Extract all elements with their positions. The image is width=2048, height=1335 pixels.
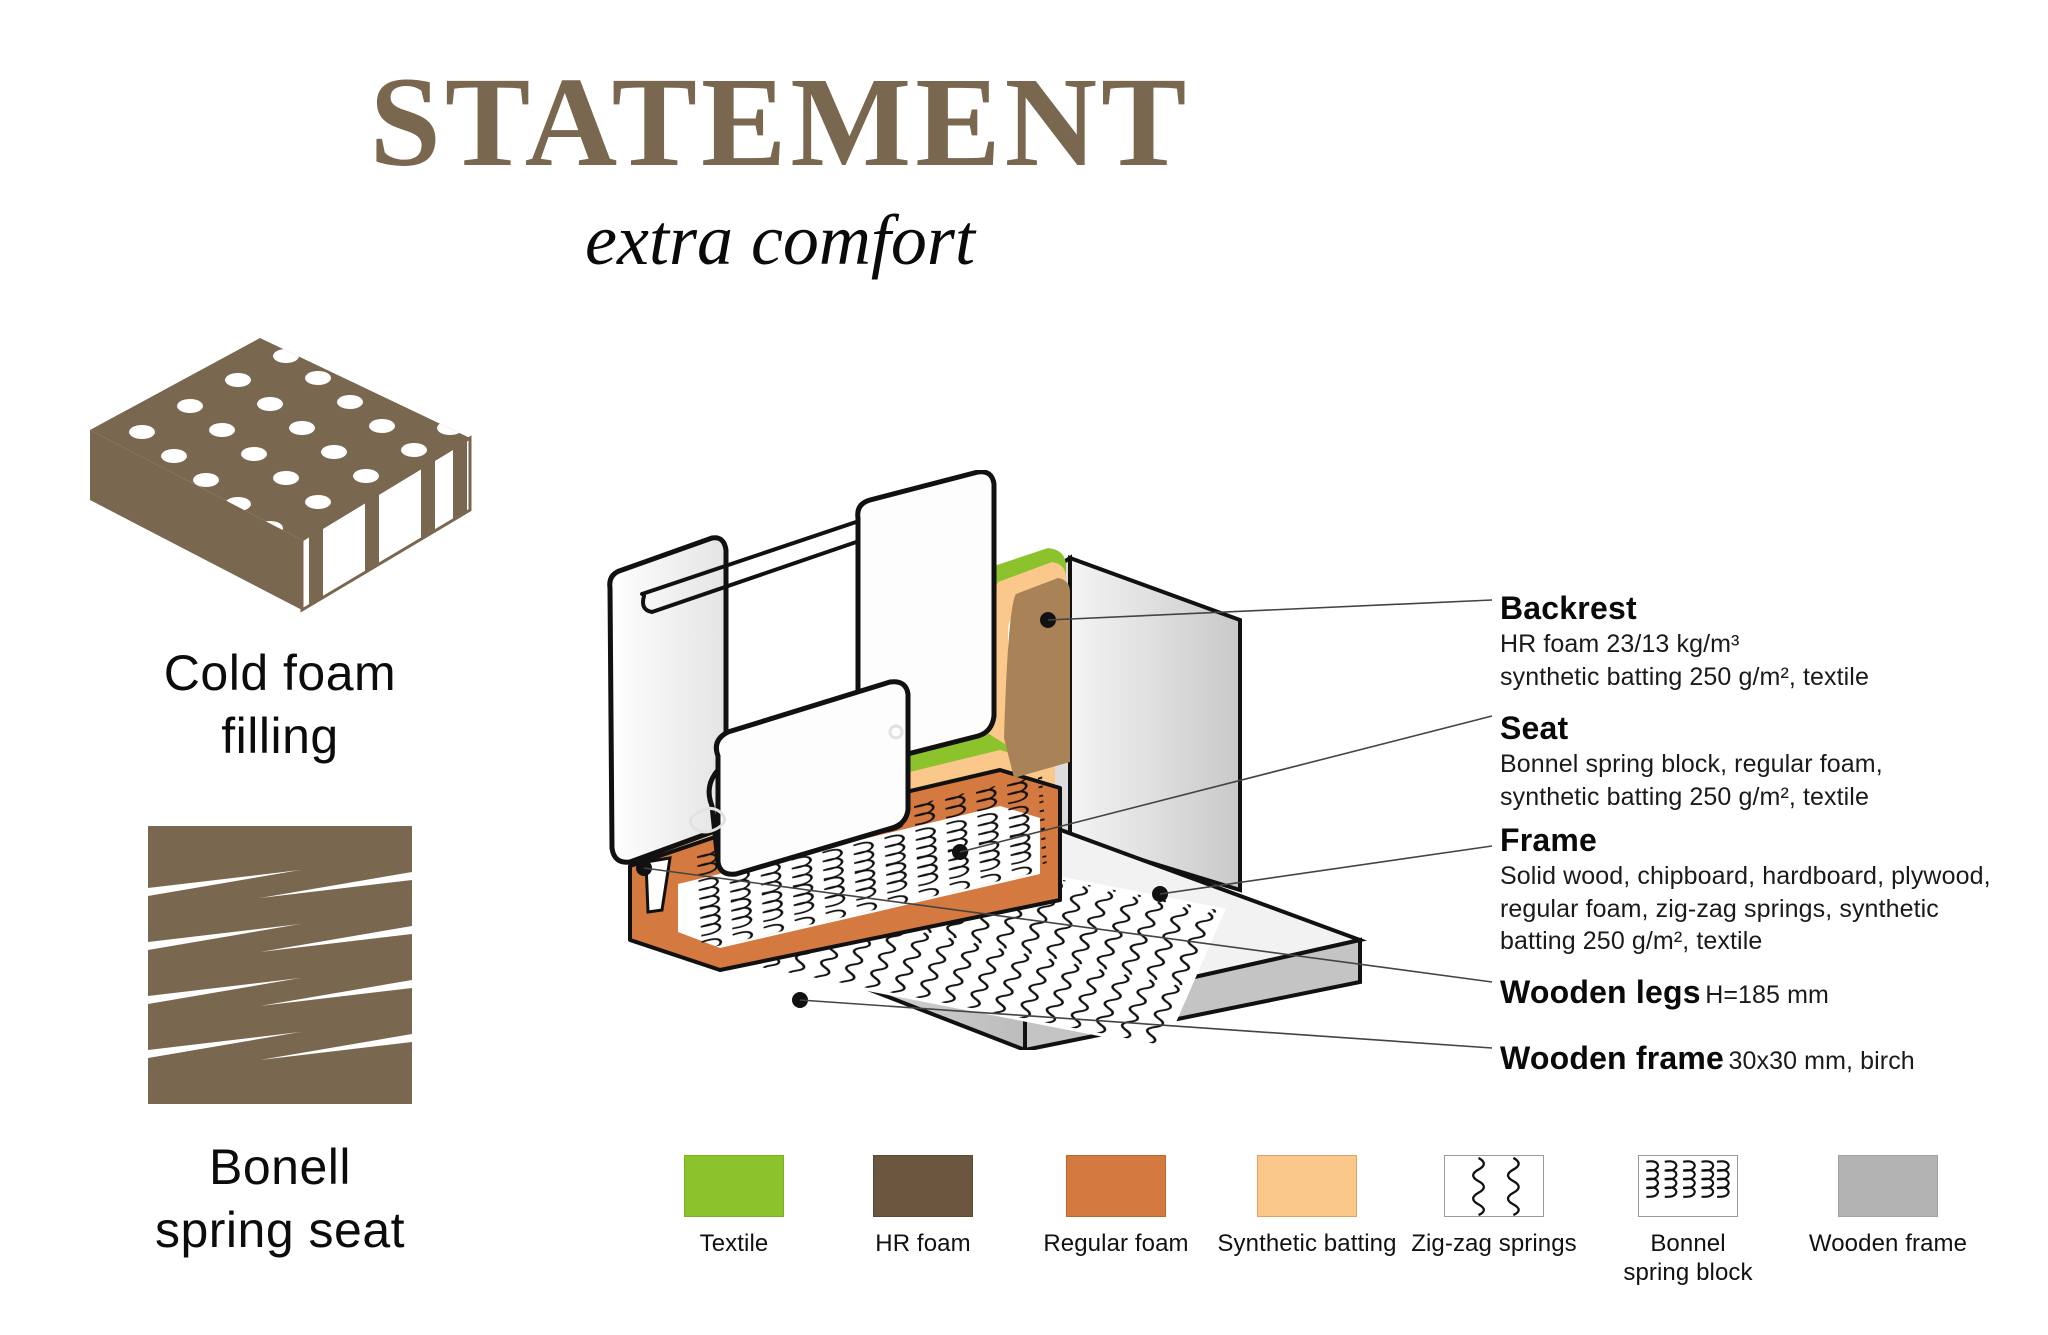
callout-wooden-frame-title: Wooden frame	[1500, 1040, 1724, 1076]
callout-dot-backrest	[1040, 612, 1056, 628]
callout-dot-wooden-frame	[792, 992, 808, 1008]
legend-label-bonnel-spring-block: Bonnel spring block	[1588, 1229, 1788, 1288]
legend-swatch-bonnel-spring-block	[1638, 1155, 1738, 1217]
callout-frame-title: Frame	[1500, 820, 1991, 860]
callout-seat-title: Seat	[1500, 708, 1883, 748]
callout-dot-seat	[952, 844, 968, 860]
callout-seat: Seat Bonnel spring block, regular foam, …	[1500, 708, 1883, 813]
callout-wooden-frame-detail: 30x30 mm, birch	[1729, 1047, 1915, 1075]
legend-item-bonnel-spring-block: Bonnel spring block	[1588, 1155, 1788, 1288]
cold-foam-block-icon	[70, 320, 490, 620]
callout-backrest-line2: synthetic batting 250 g/m², textile	[1500, 661, 1869, 694]
legend-swatch-wooden-frame	[1838, 1155, 1938, 1217]
zig-zag-spring-icon	[140, 820, 420, 1110]
sofa-cutaway-illustration	[600, 470, 1400, 1050]
legend-label-wooden-frame: Wooden frame	[1788, 1229, 1988, 1258]
title-block: STATEMENT extra comfort	[0, 58, 1560, 276]
page-subtitle: extra comfort	[0, 204, 1560, 276]
legend-swatch-synthetic-batting	[1257, 1155, 1357, 1217]
legend-swatch-hr-foam	[873, 1155, 973, 1217]
left-feature-column: Cold foam filling Bonell spring seat	[60, 320, 500, 1262]
legend-swatch-zig-zag-springs	[1444, 1155, 1544, 1217]
infographic-page: STATEMENT extra comfort	[0, 0, 2048, 1335]
cold-foam-caption-line2: filling	[60, 705, 500, 768]
legend-swatch-regular-foam	[1066, 1155, 1166, 1217]
callout-seat-line1: Bonnel spring block, regular foam,	[1500, 748, 1883, 781]
callout-backrest-title: Backrest	[1500, 588, 1869, 628]
callout-wooden-legs-detail: H=185 mm	[1705, 981, 1829, 1009]
legend-label-textile: Textile	[640, 1229, 828, 1258]
callout-backrest-line1: HR foam 23/13 kg/m³	[1500, 628, 1869, 661]
callout-frame-line1: Solid wood, chipboard, hardboard, plywoo…	[1500, 860, 1991, 893]
callout-frame-line2: regular foam, zig-zag springs, synthetic	[1500, 893, 1991, 926]
callout-dot-frame	[1152, 886, 1168, 902]
bonell-spring-caption-line1: Bonell	[60, 1136, 500, 1199]
callout-wooden-frame: Wooden frame 30x30 mm, birch	[1500, 1038, 1915, 1078]
legend-item-wooden-frame: Wooden frame	[1788, 1155, 1988, 1258]
legend-item-hr-foam: HR foam	[828, 1155, 1018, 1258]
bonnel-spring-glyph	[1639, 1156, 1737, 1216]
bonell-spring-caption-line2: spring seat	[60, 1199, 500, 1262]
callout-frame-line3: batting 250 g/m², textile	[1500, 925, 1991, 958]
legend-swatch-textile	[684, 1155, 784, 1217]
callout-seat-line2: synthetic batting 250 g/m², textile	[1500, 781, 1883, 814]
bonell-spring-caption: Bonell spring seat	[60, 1136, 500, 1262]
zig-zag-spring-glyph	[1445, 1156, 1543, 1216]
legend-item-textile: Textile	[640, 1155, 828, 1258]
legend-label-hr-foam: HR foam	[828, 1229, 1018, 1258]
callout-dot-leg	[636, 860, 652, 876]
legend-item-zig-zag-springs: Zig-zag springs	[1400, 1155, 1588, 1258]
cold-foam-caption-line1: Cold foam	[60, 642, 500, 705]
page-title: STATEMENT	[0, 58, 1560, 186]
legend-label-regular-foam: Regular foam	[1018, 1229, 1214, 1258]
legend-label-zig-zag-springs: Zig-zag springs	[1400, 1229, 1588, 1258]
legend: Textile HR foam Regular foam Synthetic b…	[640, 1155, 2000, 1288]
callout-wooden-legs-title: Wooden legs	[1500, 974, 1701, 1010]
callout-frame: Frame Solid wood, chipboard, hardboard, …	[1500, 820, 1991, 958]
legend-item-synthetic-batting: Synthetic batting	[1214, 1155, 1400, 1258]
callout-backrest: Backrest HR foam 23/13 kg/m³ synthetic b…	[1500, 588, 1869, 693]
legend-label-synthetic-batting: Synthetic batting	[1214, 1229, 1400, 1258]
cold-foam-caption: Cold foam filling	[60, 642, 500, 768]
legend-item-regular-foam: Regular foam	[1018, 1155, 1214, 1258]
callout-wooden-legs: Wooden legs H=185 mm	[1500, 972, 1829, 1012]
